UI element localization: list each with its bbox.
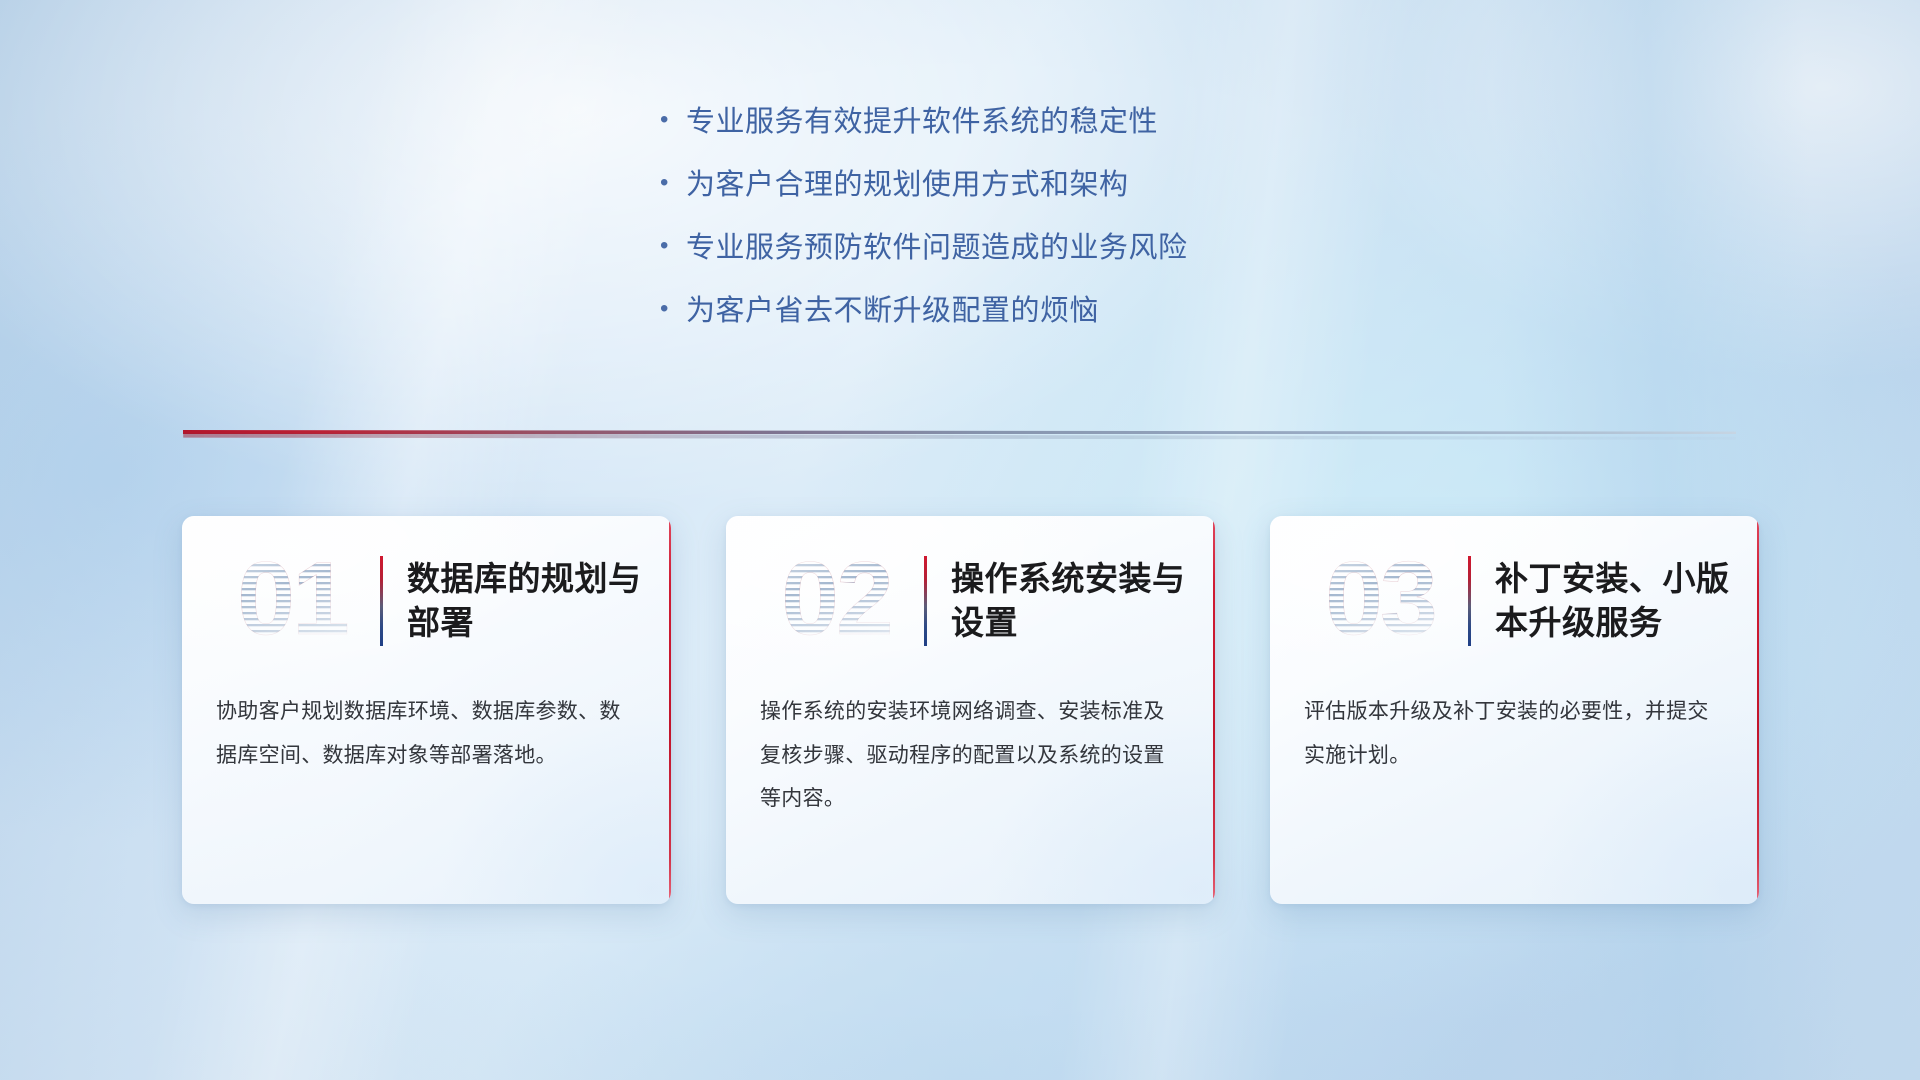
card-title-rule [924,556,927,646]
card-number-watermark: 02 02 [756,546,916,656]
card-body-1: 协助客户规划数据库环境、数据库参数、数据库空间、数据库对象等部署落地。 [182,690,671,777]
bullet-dot-icon: • [660,234,686,258]
card-header: 02 02 操作系统安装与设置 [726,516,1215,686]
bullet-dot-icon: • [660,108,686,132]
card-title-rule [1468,556,1471,646]
bullet-item-2: • 为客户合理的规划使用方式和架构 [660,161,1188,224]
bullet-text-3: 专业服务预防软件问题造成的业务风险 [686,224,1188,266]
service-card-2[interactable]: 02 02 操作系统安装与设置 操作系统的安装环境网络调查、安装标准及复核步骤、… [726,516,1215,904]
card-title-1: 数据库的规划与部署 [407,557,645,644]
divider-line-shadow [183,433,1736,440]
card-body-2: 操作系统的安装环境网络调查、安装标准及复核步骤、驱动程序的配置以及系统的设置等内… [726,690,1215,821]
bullet-text-4: 为客户省去不断升级配置的烦恼 [686,287,1099,329]
card-header: 03 03 补丁安装、小版本升级服务 [1270,516,1759,686]
service-card-3[interactable]: 03 03 补丁安装、小版本升级服务 评估版本升级及补丁安装的必要性，并提交实施… [1270,516,1759,904]
svg-text:03: 03 [1325,546,1435,656]
bullet-item-4: • 为客户省去不断升级配置的烦恼 [660,287,1188,350]
divider-line [183,430,1736,441]
bullet-text-2: 为客户合理的规划使用方式和架构 [686,161,1129,203]
card-number-watermark: 03 03 [1300,546,1460,656]
card-title-2: 操作系统安装与设置 [951,557,1189,644]
bullet-text-1: 专业服务有效提升软件系统的稳定性 [686,98,1158,140]
card-row: 01 01 数据库的规划与部署 协助客户规划数据库环境、数据库参数、数据库空间、… [182,516,1759,904]
bullet-item-3: • 专业服务预防软件问题造成的业务风险 [660,224,1188,287]
card-title-3: 补丁安装、小版本升级服务 [1495,557,1733,644]
service-card-1[interactable]: 01 01 数据库的规划与部署 协助客户规划数据库环境、数据库参数、数据库空间、… [182,516,671,904]
bullet-dot-icon: • [660,297,686,321]
bullet-dot-icon: • [660,171,686,195]
card-body-3: 评估版本升级及补丁安装的必要性，并提交实施计划。 [1270,690,1759,777]
bullet-list: • 专业服务有效提升软件系统的稳定性 • 为客户合理的规划使用方式和架构 • 专… [660,98,1188,350]
svg-text:02: 02 [781,546,891,656]
divider-line-main [183,430,1736,434]
card-number-watermark: 01 01 [212,546,372,656]
svg-text:01: 01 [237,546,347,656]
bullet-item-1: • 专业服务有效提升软件系统的稳定性 [660,98,1188,161]
card-title-rule [380,556,383,646]
card-header: 01 01 数据库的规划与部署 [182,516,671,686]
